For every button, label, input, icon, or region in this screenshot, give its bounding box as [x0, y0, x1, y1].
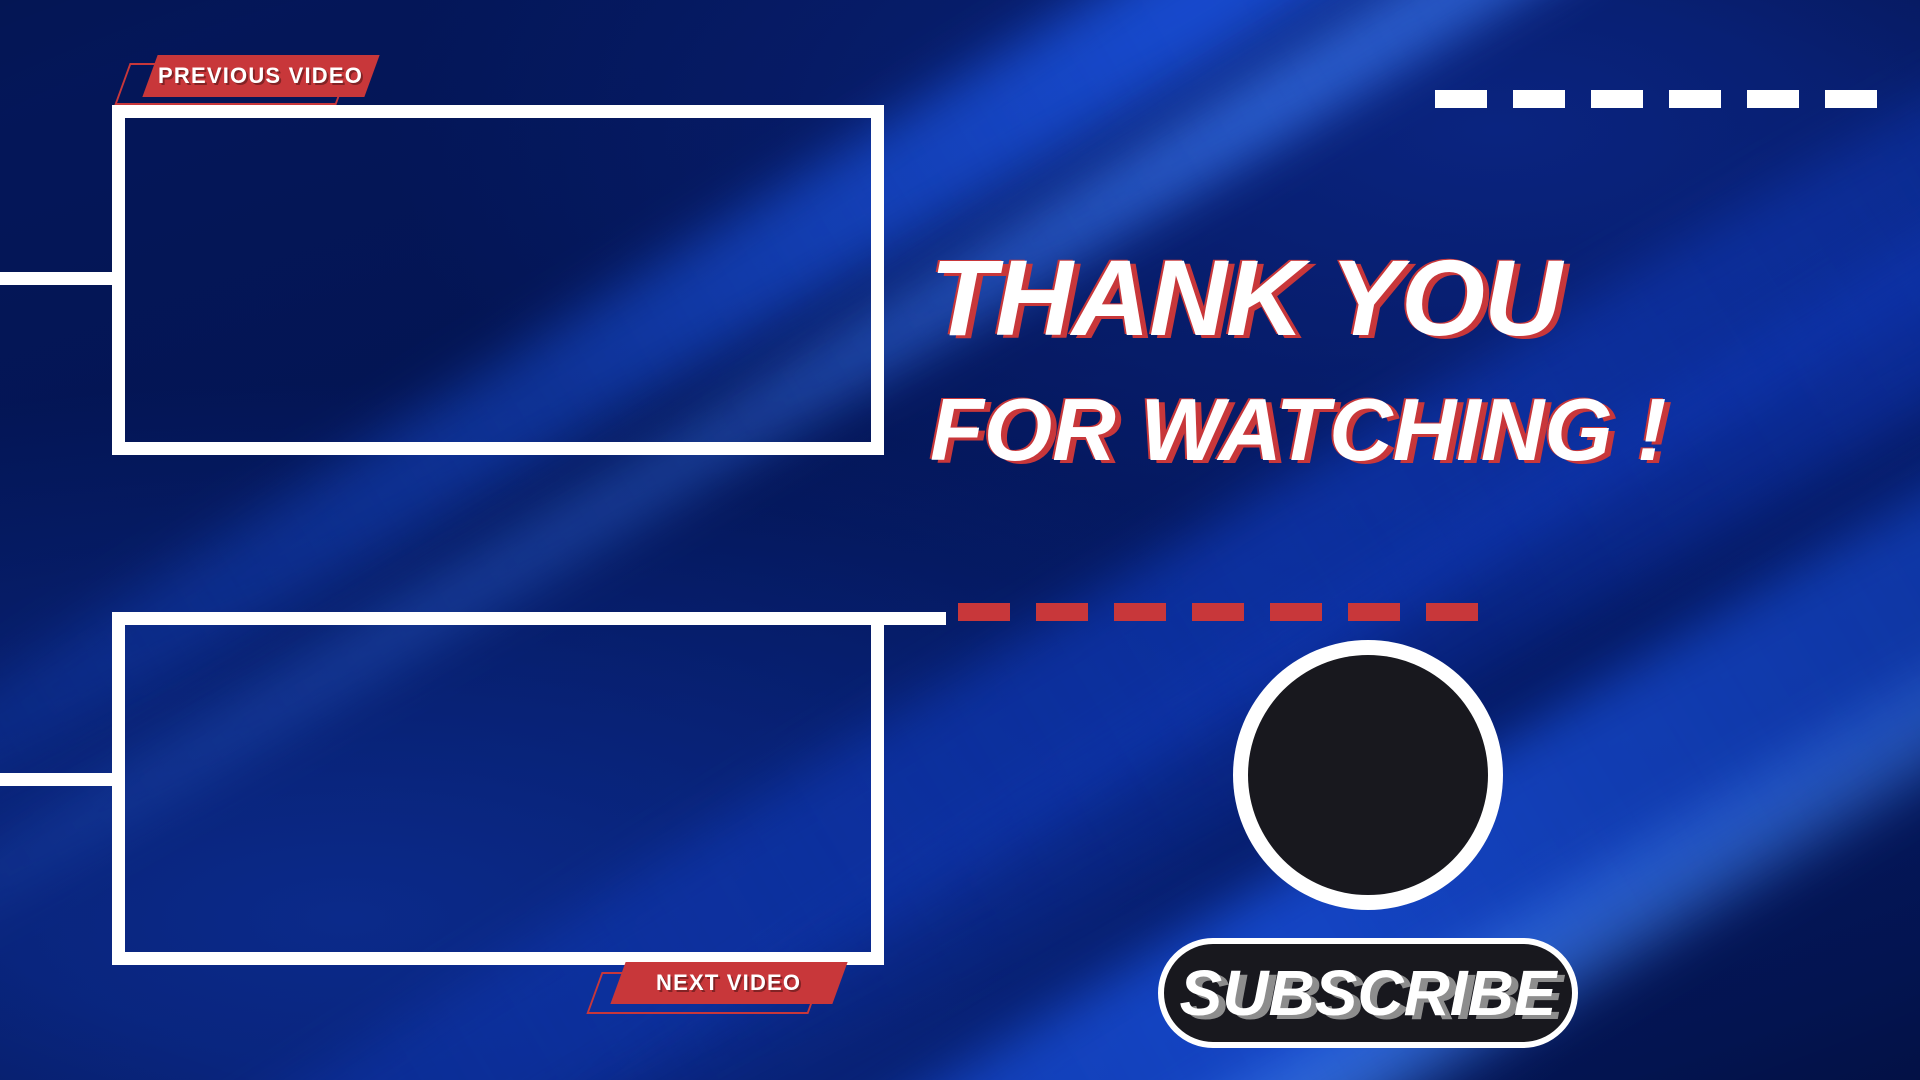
endscreen-canvas: PREVIOUS VIDEO NEXT VIDEO THANK YOU FOR …: [0, 0, 1920, 1080]
previous-video-ribbon-label: PREVIOUS VIDEO: [158, 63, 363, 89]
headline-line-1: THANK YOU: [930, 244, 1860, 352]
subscribe-button[interactable]: SUBSCRIBE: [1158, 938, 1578, 1048]
dash-segment: [1435, 90, 1487, 108]
dash-segment: [958, 603, 1010, 621]
dash-segment: [1513, 90, 1565, 108]
dash-segment: [1426, 603, 1478, 621]
previous-video-slot[interactable]: [112, 105, 884, 455]
previous-video-ribbon[interactable]: PREVIOUS VIDEO: [142, 55, 379, 97]
dash-segment: [1825, 90, 1877, 108]
dash-segment: [1348, 603, 1400, 621]
previous-video-connector-line: [0, 272, 112, 285]
next-video-connector-line: [0, 773, 112, 786]
dash-segment: [1669, 90, 1721, 108]
next-video-top-extension-line: [884, 612, 946, 625]
dash-segment: [1270, 603, 1322, 621]
red-dashed-rule: [958, 603, 1504, 621]
next-video-ribbon[interactable]: NEXT VIDEO: [610, 962, 847, 1004]
white-dashed-rule: [1435, 90, 1903, 108]
dash-segment: [1114, 603, 1166, 621]
dash-segment: [1036, 603, 1088, 621]
dash-segment: [1192, 603, 1244, 621]
subscribe-button-label: SUBSCRIBE: [1180, 956, 1557, 1030]
dash-segment: [1747, 90, 1799, 108]
channel-avatar[interactable]: [1248, 655, 1488, 895]
headline-line-2: FOR WATCHING !: [930, 386, 1860, 474]
headline-block: THANK YOU FOR WATCHING !: [930, 244, 1860, 474]
next-video-slot[interactable]: [112, 612, 884, 965]
next-video-ribbon-label: NEXT VIDEO: [656, 970, 801, 996]
dash-segment: [1591, 90, 1643, 108]
